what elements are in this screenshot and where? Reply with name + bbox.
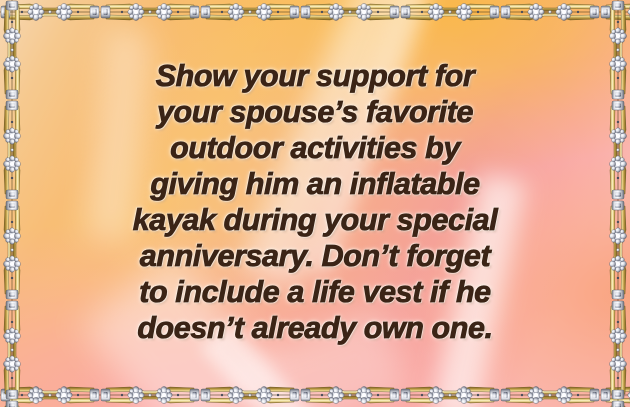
quote-line: kayak during your special	[80, 202, 550, 238]
quote-text-block: Show your support for your spouse’s favo…	[80, 58, 550, 346]
quote-line: your spouse’s favorite	[80, 94, 550, 130]
quote-line: outdoor activities by	[80, 130, 550, 166]
quote-line: doesn’t already own one.	[80, 310, 550, 346]
quote-card: Show your support for your spouse’s favo…	[0, 0, 630, 407]
quote-line: giving him an inflatable	[80, 166, 550, 202]
quote-line: Show your support for	[80, 58, 550, 94]
quote-line: to include a life vest if he	[80, 274, 550, 310]
quote-line: anniversary. Don’t forget	[80, 238, 550, 274]
